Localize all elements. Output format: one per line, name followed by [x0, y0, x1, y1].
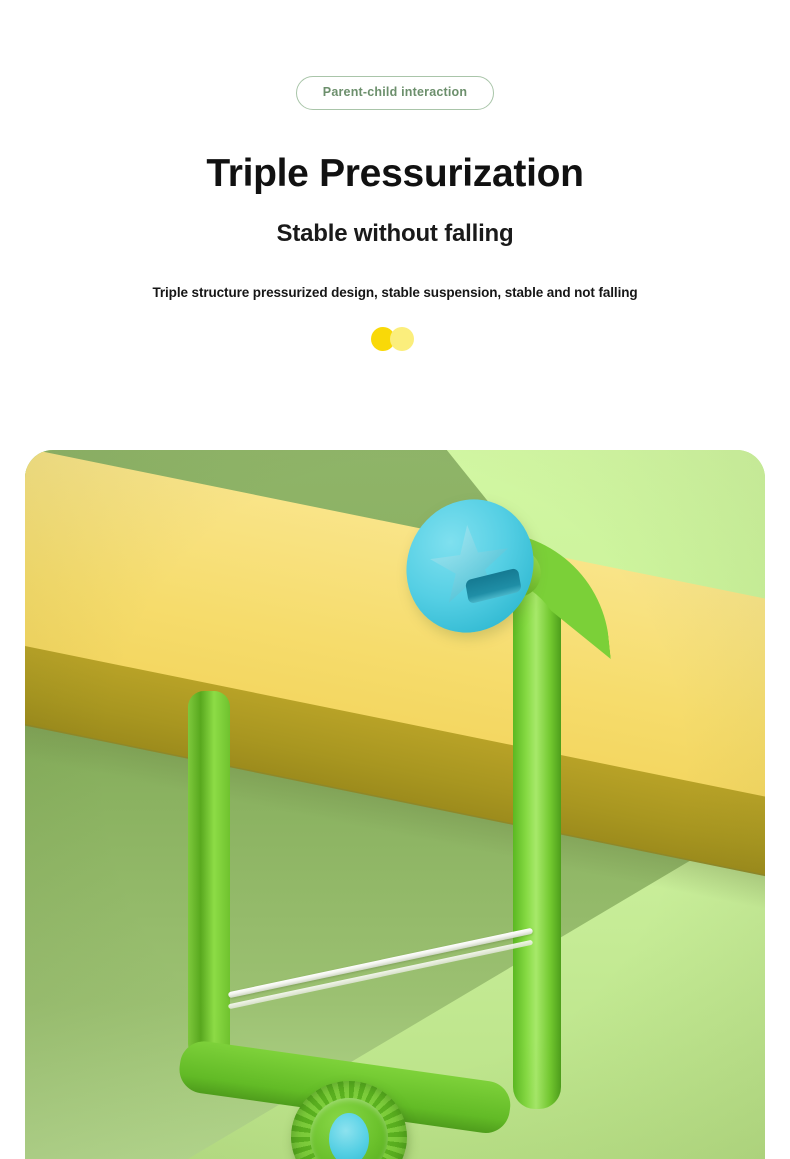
parent-child-interaction-badge: Parent-child interaction — [296, 76, 494, 110]
yellow-dot-faded-icon — [390, 327, 414, 351]
product-detail-page: Parent-child interaction Triple Pressuri… — [0, 0, 790, 1159]
page-subtitle: Stable without falling — [0, 221, 790, 247]
product-scene — [25, 450, 765, 1159]
header-section: Parent-child interaction Triple Pressuri… — [0, 0, 790, 351]
feature-description: Triple structure pressurized design, sta… — [0, 285, 790, 300]
hook-left-arm — [188, 691, 230, 1060]
page-title: Triple Pressurization — [0, 154, 790, 195]
knob-cyan-center — [329, 1113, 369, 1159]
dot-ornament — [371, 327, 419, 351]
product-image — [25, 450, 765, 1159]
